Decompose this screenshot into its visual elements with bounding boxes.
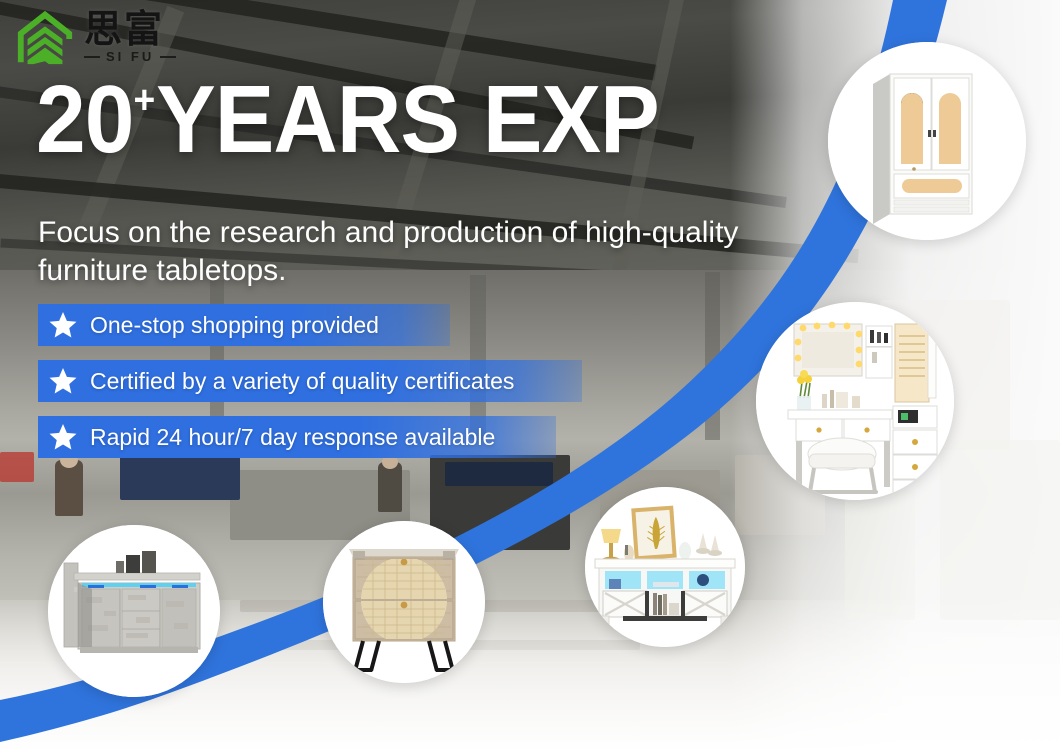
feature-label: Certified by a variety of quality certif… <box>90 368 514 395</box>
brand-name-cn: 思富 <box>84 10 176 48</box>
star-icon <box>48 310 78 340</box>
logo-rule-right <box>160 56 176 58</box>
logo-text-block: 思富 SI FU <box>84 10 176 64</box>
led-farmhouse-tv-stand-illustration <box>585 487 745 647</box>
feature-item-3: Rapid 24 hour/7 day response available <box>38 416 556 458</box>
rattan-circle-cabinet-illustration <box>323 521 485 683</box>
feature-item-1: One-stop shopping provided <box>38 304 450 346</box>
headline-plus: + <box>133 80 154 120</box>
product-circle-rattan-circle-cabinet[interactable] <box>323 521 485 683</box>
star-icon <box>48 366 78 396</box>
support-pillar <box>705 272 720 462</box>
ghost-furniture <box>940 440 1060 620</box>
product-circle-arched-rattan-wardrobe[interactable] <box>828 42 1026 240</box>
feature-label: Rapid 24 hour/7 day response available <box>90 424 495 451</box>
subtitle: Focus on the research and production of … <box>38 214 778 291</box>
feature-item-2: Certified by a variety of quality certif… <box>38 360 582 402</box>
brand-name-en: SI FU <box>106 49 154 64</box>
headline-rest: YEARS EXP <box>156 78 659 162</box>
machine-screen <box>445 462 553 486</box>
product-circle-led-vanity-desk-set[interactable] <box>756 302 954 500</box>
page-title: 20 + YEARS EXP <box>36 78 659 162</box>
green-house-logo-icon <box>14 6 76 68</box>
worker-figure <box>378 462 402 512</box>
feature-list: One-stop shopping provided Certified by … <box>38 304 582 458</box>
monitor-panel <box>120 455 240 500</box>
worker-figure <box>55 460 83 516</box>
star-icon <box>48 422 78 452</box>
concrete-led-sideboard-illustration <box>48 525 220 697</box>
product-circle-led-farmhouse-tv-stand[interactable] <box>585 487 745 647</box>
promotional-banner: 思富 SI FU 20 + YEARS EXP Focus on the res… <box>0 0 1060 749</box>
arched-rattan-wardrobe-illustration <box>828 42 1026 240</box>
product-circle-concrete-led-sideboard[interactable] <box>48 525 220 697</box>
feature-label: One-stop shopping provided <box>90 312 379 339</box>
brand-name-en-row: SI FU <box>84 49 176 64</box>
headline-number: 20 <box>36 78 133 162</box>
logo-rule-left <box>84 56 100 58</box>
warning-sign <box>0 452 34 482</box>
brand-logo[interactable]: 思富 SI FU <box>14 6 176 68</box>
led-vanity-desk-set-illustration <box>756 302 954 500</box>
